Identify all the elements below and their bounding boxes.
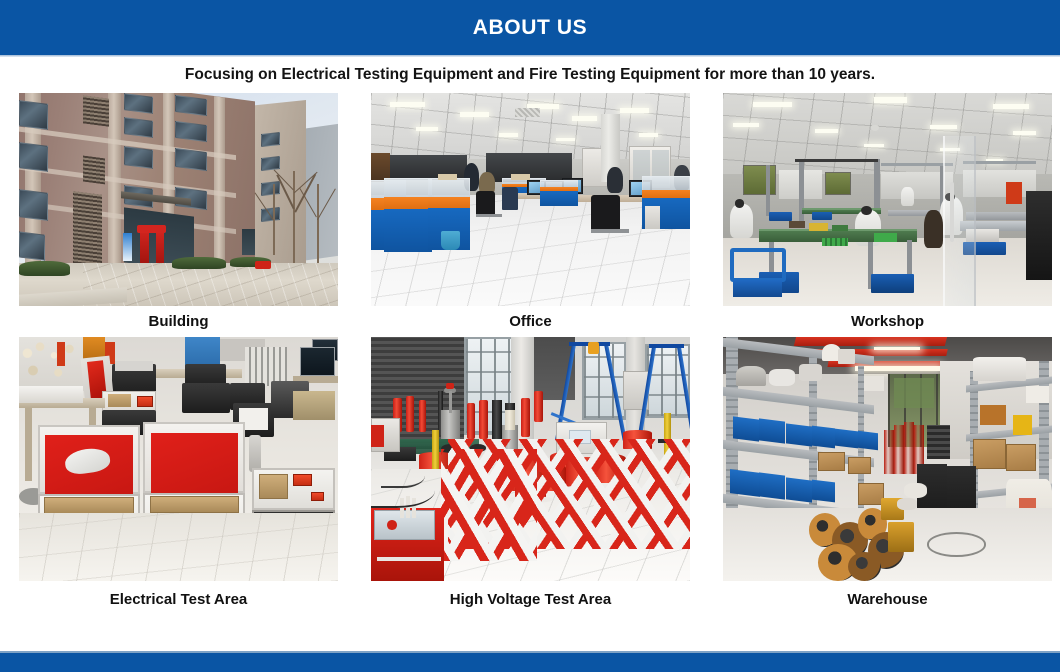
- photo-high-voltage-test-area[interactable]: [371, 337, 690, 581]
- header-bar: ABOUT US: [0, 0, 1060, 55]
- caption-workshop: Workshop: [723, 306, 1052, 337]
- about-us-page: ABOUT US Focusing on Electrical Testing …: [0, 0, 1060, 672]
- caption-electrical-test-area: Electrical Test Area: [19, 581, 338, 617]
- header-divider: [0, 55, 1060, 57]
- caption-building: Building: [19, 306, 338, 337]
- photo-workshop[interactable]: [723, 93, 1052, 306]
- photo-electrical-test-area[interactable]: [19, 337, 338, 581]
- caption-warehouse: Warehouse: [723, 581, 1052, 617]
- gallery-item-electrical-test-area: Electrical Test Area: [19, 337, 338, 638]
- gallery-item-high-voltage-test-area: High Voltage Test Area: [371, 337, 690, 638]
- caption-high-voltage-test-area: High Voltage Test Area: [371, 581, 690, 617]
- gallery-item-building: Building: [19, 93, 338, 337]
- gallery-item-workshop: Workshop: [723, 93, 1052, 337]
- gallery-item-office: Office: [371, 93, 690, 337]
- caption-office: Office: [371, 306, 690, 337]
- photo-building[interactable]: [19, 93, 338, 306]
- photo-gallery: Building: [19, 93, 1042, 638]
- photo-office[interactable]: [371, 93, 690, 306]
- page-title: ABOUT US: [473, 16, 587, 40]
- subtitle-text: Focusing on Electrical Testing Equipment…: [0, 58, 1060, 92]
- photo-warehouse[interactable]: [723, 337, 1052, 581]
- gallery-item-warehouse: Warehouse: [723, 337, 1052, 638]
- footer-bar: [0, 653, 1060, 672]
